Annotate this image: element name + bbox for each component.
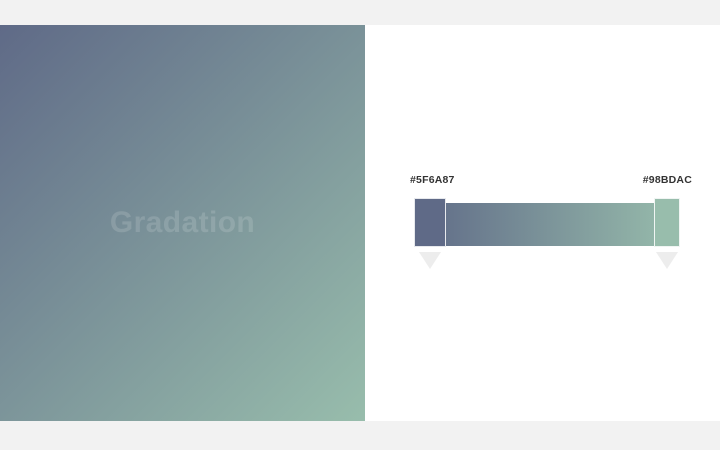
start-color-stop-handle[interactable] (414, 198, 446, 247)
gradient-bar-track[interactable] (414, 203, 680, 246)
start-color-hex-label: #5F6A87 (410, 175, 455, 186)
end-color-hex-label: #98BDAC (560, 175, 692, 186)
end-color-stop-handle[interactable] (654, 198, 680, 247)
page-title: Gradation (110, 208, 255, 238)
gradient-stop-slider[interactable] (414, 203, 680, 246)
end-color-stop-pointer-icon (656, 252, 678, 269)
start-color-stop-pointer-icon (419, 252, 441, 269)
gradient-preview-panel: Gradation (0, 25, 365, 421)
screen: Gradation #5F6A87 #98BDAC (0, 0, 720, 450)
